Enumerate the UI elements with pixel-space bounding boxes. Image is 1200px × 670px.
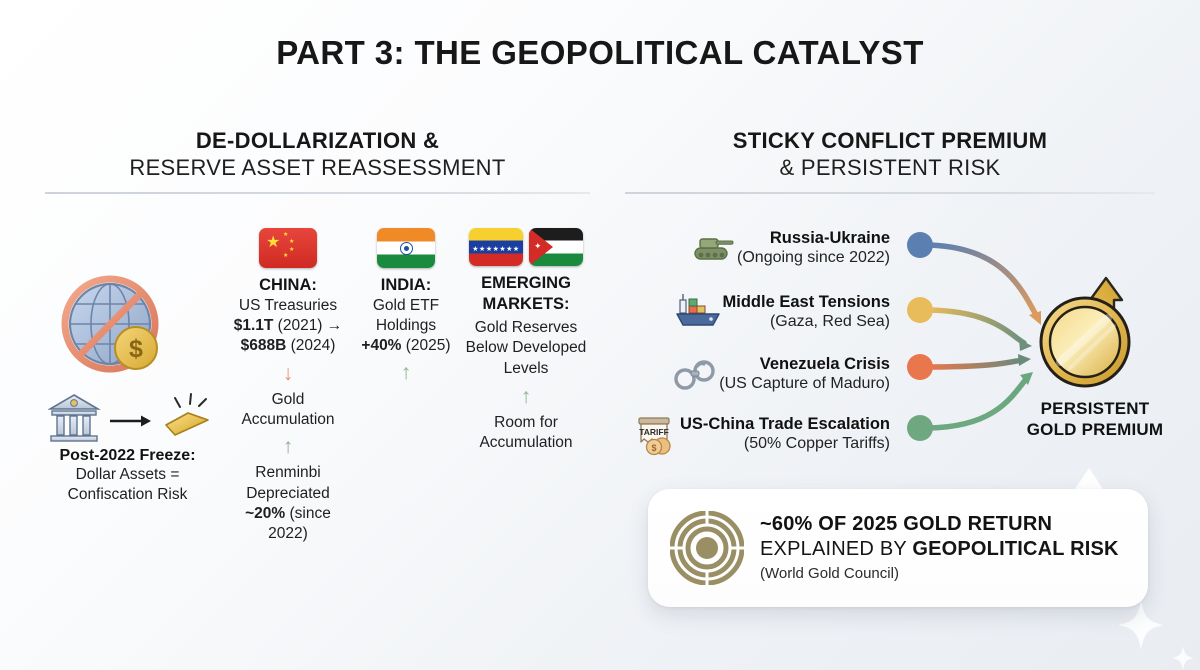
callout-row2-plain: EXPLAINED BY xyxy=(760,538,912,560)
china-arrow-up-icon: ↑ xyxy=(222,436,354,458)
freeze-caption-bold: Post-2022 Freeze: xyxy=(20,447,235,465)
slide-root: PART 3: THE GEOPOLITICAL CATALYST DE-DOL… xyxy=(0,0,1200,670)
china-bottom-2: ~20% (since xyxy=(222,504,354,524)
left-column-heading: DE-DOLLARIZATION & RESERVE ASSET REASSES… xyxy=(45,128,590,182)
freeze-caption-line2: Confiscation Risk xyxy=(20,485,235,505)
conflict-node-middle-east[interactable] xyxy=(907,297,933,323)
india-line-0: Gold ETF xyxy=(352,296,460,316)
em-arrow-up-icon: ↑ xyxy=(452,386,600,408)
right-divider xyxy=(625,192,1155,194)
gold-outcome-label: PERSISTENT GOLD PREMIUM xyxy=(1000,398,1190,440)
jordan-flag: ✦ xyxy=(529,228,583,266)
em-name-line2: MARKETS: xyxy=(452,294,600,315)
conflict-node-us-china[interactable] xyxy=(907,415,933,441)
left-heading-line1: DE-DOLLARIZATION & xyxy=(45,128,590,155)
china-line-1: $1.1T (2021) → xyxy=(222,316,354,336)
em-line-1: Below Developed xyxy=(452,338,600,358)
callout-row1: ~60% OF 2025 GOLD RETURN xyxy=(760,512,1119,537)
china-bottom-1: Depreciated xyxy=(222,484,354,504)
india-arrow-up-icon: ↑ xyxy=(352,362,460,384)
conflict-title-3: US-China Trade Escalation xyxy=(680,414,890,434)
em-bottom-line2: Accumulation xyxy=(452,433,600,453)
conflict-title-1: Middle East Tensions xyxy=(723,292,890,312)
china-bottom-3: 2022) xyxy=(222,524,354,544)
em-name-line1: EMERGING xyxy=(452,273,600,294)
india-name: INDIA: xyxy=(352,275,460,296)
right-arrow-icon xyxy=(110,416,151,427)
sparkle-icon xyxy=(1118,600,1164,650)
conflict-title-0: Russia-Ukraine xyxy=(737,228,890,248)
china-bottom-0: Renminbi xyxy=(222,463,354,483)
conflict-detail-3: (50% Copper Tariffs) xyxy=(680,434,890,454)
sparkle-small-icon xyxy=(1172,646,1194,670)
svg-text:TARIFF: TARIFF xyxy=(639,427,669,437)
callout-row2: EXPLAINED BY GEOPOLITICAL RISK xyxy=(760,537,1119,562)
india-line-2: +40% (2025) xyxy=(352,336,460,356)
callout-text: ~60% OF 2025 GOLD RETURN EXPLAINED BY GE… xyxy=(760,512,1119,584)
country-block-emerging-markets: ★★★★★★★ ✦ EMERGING MARKETS: Gold Reserve… xyxy=(452,228,600,453)
gold-outcome-line2: GOLD PREMIUM xyxy=(1000,419,1190,440)
conflict-item-us-china[interactable]: TARIFF $ US-China Trade Escalation (50% … xyxy=(628,412,902,456)
bank-to-gold-row xyxy=(48,389,213,454)
gold-coin-up-arrow-icon xyxy=(1030,270,1165,400)
china-line-2: $688B (2024) xyxy=(222,336,354,356)
right-column-heading: STICKY CONFLICT PREMIUM & PERSISTENT RIS… xyxy=(625,128,1155,182)
conflict-title-2: Venezuela Crisis xyxy=(719,354,890,374)
conflict-detail-0: (Ongoing since 2022) xyxy=(737,248,890,268)
conflict-node-russia-ukraine[interactable] xyxy=(907,232,933,258)
em-line-2: Levels xyxy=(452,359,600,379)
cargo-ship-icon xyxy=(675,290,723,334)
country-block-china: ★ ★ ★ ★ ★ CHINA: US Treasuries $1.1T (20… xyxy=(222,228,354,544)
globe-no-dollar-icon: $ xyxy=(58,272,170,389)
gold-outcome-line1: PERSISTENT xyxy=(1000,398,1190,419)
callout-row2-bold: GEOPOLITICAL RISK xyxy=(912,538,1118,560)
bank-icon xyxy=(50,395,98,441)
em-bottom-line1: Room for xyxy=(452,413,600,433)
tank-icon xyxy=(689,226,737,270)
right-heading-line1: STICKY CONFLICT PREMIUM xyxy=(625,128,1155,155)
freeze-caption: Post-2022 Freeze: Dollar Assets = Confis… xyxy=(20,447,235,505)
conflict-item-russia-ukraine[interactable]: Russia-Ukraine (Ongoing since 2022) xyxy=(640,226,902,270)
callout-card: ~60% OF 2025 GOLD RETURN EXPLAINED BY GE… xyxy=(648,489,1148,607)
page-title: PART 3: THE GEOPOLITICAL CATALYST xyxy=(0,34,1200,72)
left-heading-line2: RESERVE ASSET REASSESSMENT xyxy=(45,155,590,182)
china-mid-line2: Accumulation xyxy=(222,410,354,430)
india-flag xyxy=(352,228,460,268)
tariff-jar-icon: TARIFF $ xyxy=(632,412,680,456)
left-divider xyxy=(45,192,590,194)
china-mid-line1: Gold xyxy=(222,390,354,410)
india-line-1: Holdings xyxy=(352,316,460,336)
handcuffs-icon xyxy=(671,352,719,396)
callout-row3: (World Gold Council) xyxy=(760,564,1119,584)
svg-text:$: $ xyxy=(129,335,143,363)
conflict-item-venezuela[interactable]: Venezuela Crisis (US Capture of Maduro) xyxy=(640,352,902,396)
china-arrow-down-icon: ↓ xyxy=(222,363,354,385)
world-gold-council-rings-icon xyxy=(670,511,744,585)
conflict-detail-1: (Gaza, Red Sea) xyxy=(723,312,890,332)
freeze-caption-line1: Dollar Assets = xyxy=(20,465,235,485)
conflict-detail-2: (US Capture of Maduro) xyxy=(719,374,890,394)
china-name: CHINA: xyxy=(222,275,354,296)
svg-text:$: $ xyxy=(652,443,657,453)
em-line-0: Gold Reserves xyxy=(452,318,600,338)
right-heading-line2: & PERSISTENT RISK xyxy=(625,155,1155,182)
china-flag: ★ ★ ★ ★ ★ xyxy=(222,228,354,268)
conflict-node-venezuela[interactable] xyxy=(907,354,933,380)
conflict-item-middle-east[interactable]: Middle East Tensions (Gaza, Red Sea) xyxy=(640,290,902,334)
gold-bar-icon xyxy=(166,394,208,435)
venezuela-flag: ★★★★★★★ xyxy=(469,228,523,266)
china-line-0: US Treasuries xyxy=(222,296,354,316)
country-block-india: INDIA: Gold ETF Holdings +40% (2025) ↑ xyxy=(352,228,460,384)
